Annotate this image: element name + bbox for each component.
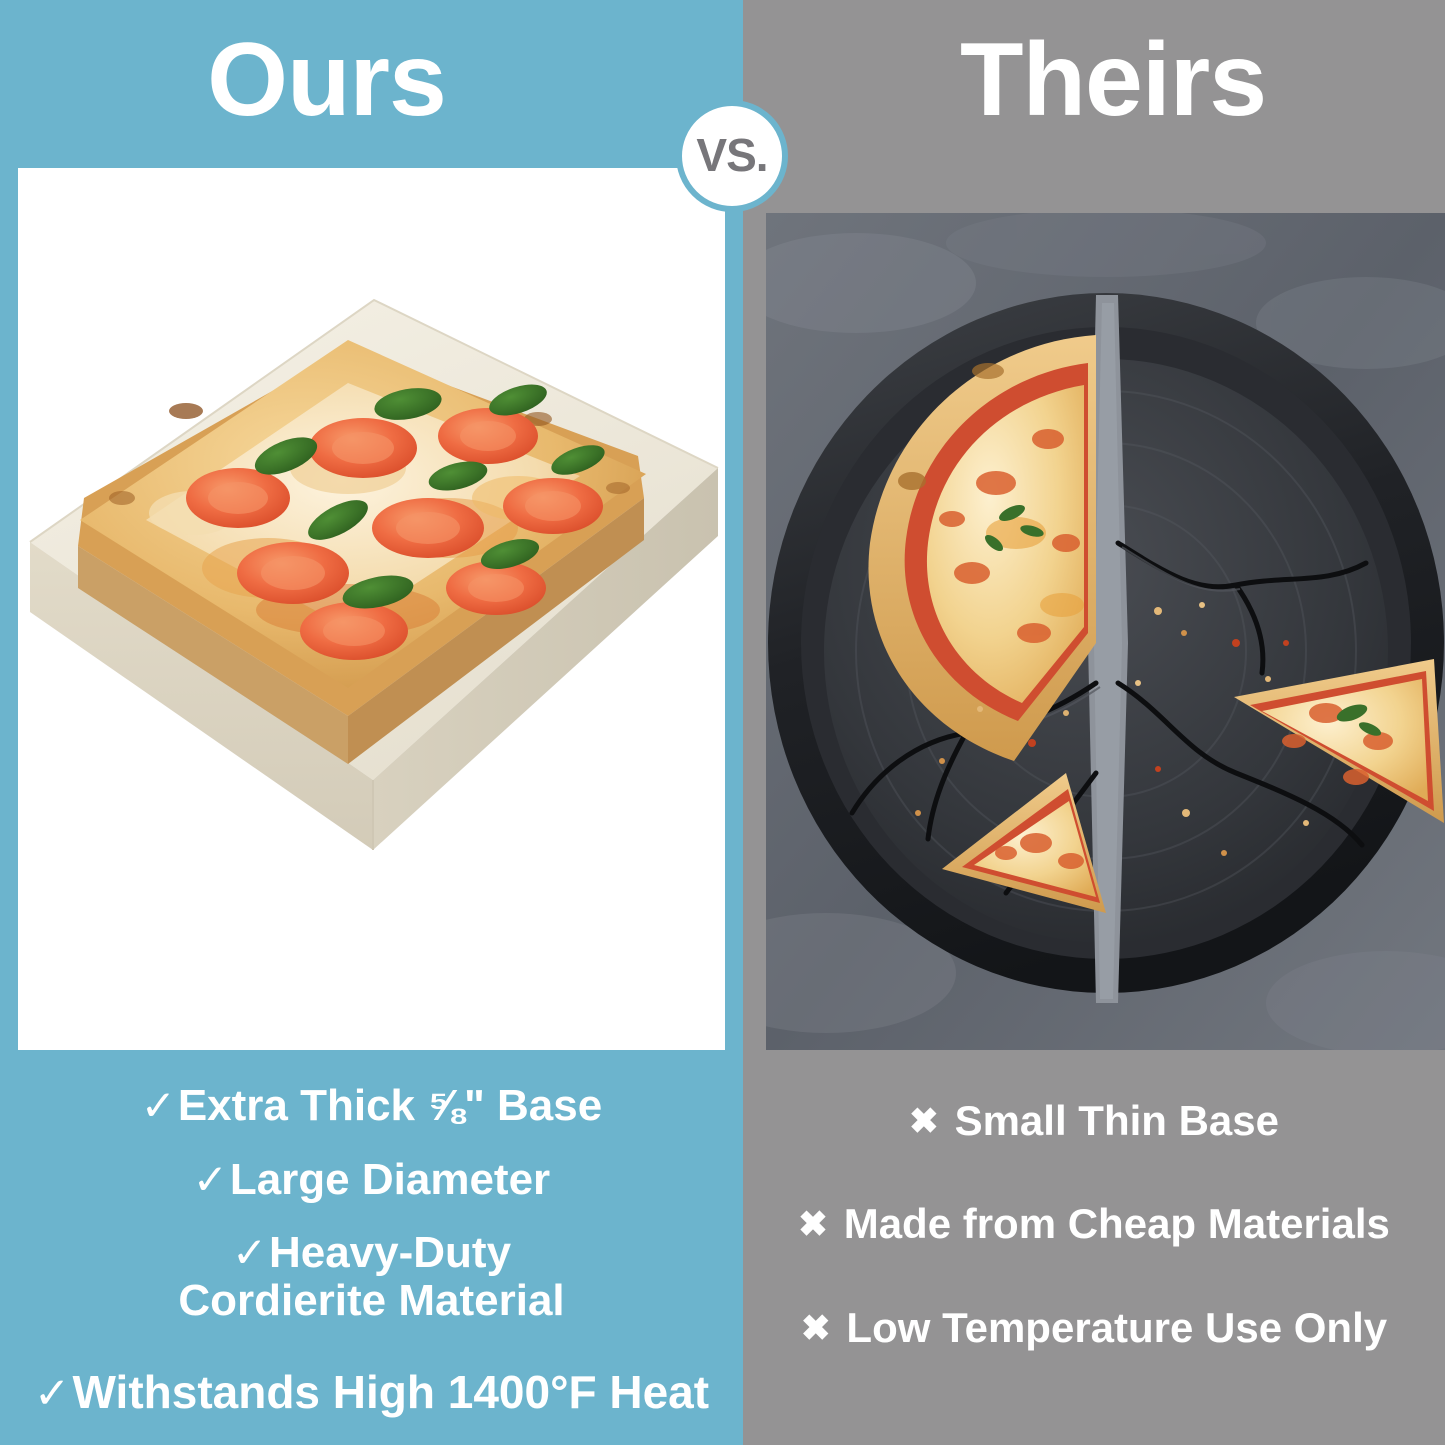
ours-feature-item: ✓Large Diameter: [12, 1156, 731, 1204]
ours-feature-item: ✓Heavy-Duty Cordierite Material: [12, 1229, 731, 1324]
ours-feature-label: Withstands High 1400°F Heat: [73, 1366, 710, 1418]
theirs-feature-item: ✖Small Thin Base: [751, 1098, 1437, 1143]
ours-feature-item: ✓Extra Thick ⅝" Base: [12, 1082, 731, 1130]
cross-icon: ✖: [909, 1103, 939, 1141]
theirs-feature-label: Small Thin Base: [955, 1097, 1279, 1144]
ours-feature-label-line2: Cordierite Material: [12, 1277, 731, 1325]
vs-label: VS.: [696, 132, 767, 178]
check-icon: ✓: [193, 1156, 228, 1203]
theirs-product-photo: [766, 213, 1445, 1050]
ours-feature-list: ✓Extra Thick ⅝" Base ✓Large Diameter ✓He…: [0, 1082, 743, 1418]
cross-icon: ✖: [798, 1206, 828, 1244]
ours-feature-label: Large Diameter: [230, 1155, 550, 1204]
ours-feature-item: ✓Withstands High 1400°F Heat: [12, 1368, 731, 1418]
theirs-feature-list: ✖Small Thin Base ✖Made from Cheap Materi…: [743, 1098, 1445, 1350]
theirs-feature-item: ✖Low Temperature Use Only: [751, 1305, 1437, 1350]
check-icon: ✓: [232, 1229, 267, 1276]
theirs-heading: Theirs: [743, 22, 1445, 138]
ours-product-photo: [18, 168, 725, 1050]
vs-badge: VS.: [676, 100, 788, 212]
ours-heading: Ours: [0, 22, 743, 138]
check-icon: ✓: [34, 1369, 71, 1418]
ours-feature-label: Extra Thick ⅝" Base: [178, 1081, 602, 1130]
comparison-infographic: Ours Theirs VS.: [0, 0, 1445, 1445]
theirs-feature-item: ✖Made from Cheap Materials: [751, 1201, 1437, 1246]
theirs-feature-label: Made from Cheap Materials: [844, 1200, 1390, 1247]
cross-icon: ✖: [801, 1310, 831, 1348]
theirs-feature-label: Low Temperature Use Only: [846, 1304, 1387, 1351]
ours-feature-label: Heavy-Duty: [269, 1228, 511, 1277]
check-icon: ✓: [141, 1082, 176, 1129]
